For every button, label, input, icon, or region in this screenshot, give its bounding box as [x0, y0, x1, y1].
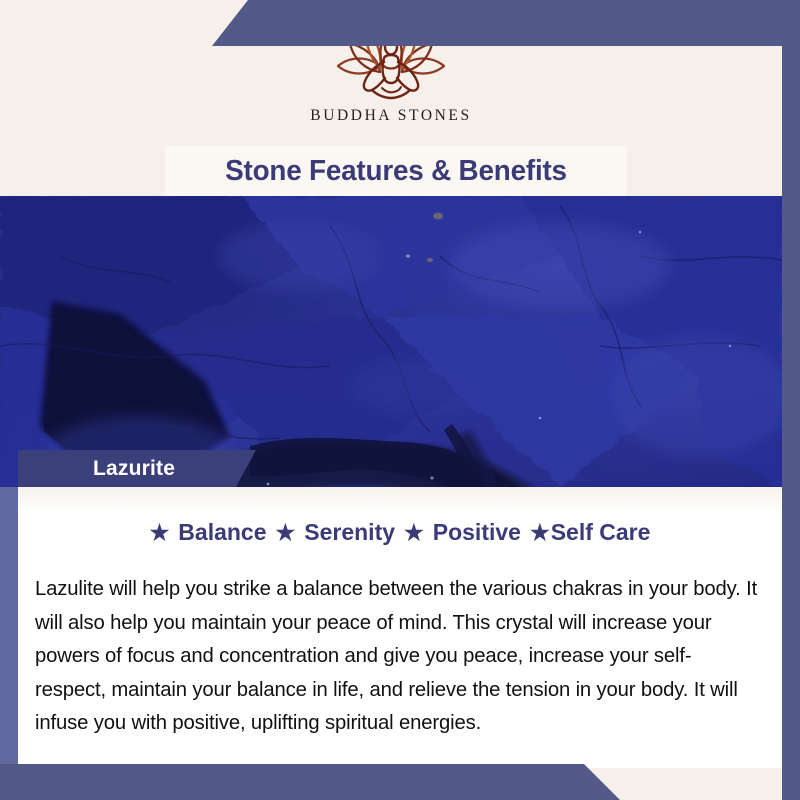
- poster-canvas: BUDDHA STONES Stone Features & Benefits …: [0, 0, 800, 800]
- content-top-fade: [18, 487, 782, 513]
- decor-corner-bottom-left: [0, 764, 620, 800]
- decor-edge-right: [782, 0, 800, 800]
- stone-description: Lazulite will help you strike a balance …: [35, 573, 759, 741]
- page-title: Stone Features & Benefits: [225, 155, 567, 188]
- benefit-label-positive: Positive: [433, 519, 521, 545]
- page-title-plate: Stone Features & Benefits: [165, 146, 627, 196]
- star-icon-2: ★: [276, 520, 296, 545]
- benefits-row: ★Balance★Serenity★Positive★Self Care: [18, 519, 782, 546]
- star-icon-4: ★: [530, 520, 550, 545]
- content-card: ★Balance★Serenity★Positive★Self Care Laz…: [18, 487, 782, 768]
- decor-edge-left: [0, 487, 18, 800]
- star-icon-1: ★: [150, 520, 170, 545]
- stone-name: Lazurite: [93, 457, 175, 481]
- brand-name: BUDDHA STONES: [0, 107, 782, 125]
- benefit-label-balance: Balance: [178, 519, 266, 545]
- benefit-label-self-care: Self Care: [551, 519, 651, 545]
- benefit-label-serenity: Serenity: [304, 519, 395, 545]
- stone-name-ribbon: Lazurite: [18, 450, 256, 487]
- lazurite-stone-photo: [0, 196, 782, 487]
- decor-corner-top-right: [212, 0, 800, 46]
- star-icon-3: ★: [404, 520, 424, 545]
